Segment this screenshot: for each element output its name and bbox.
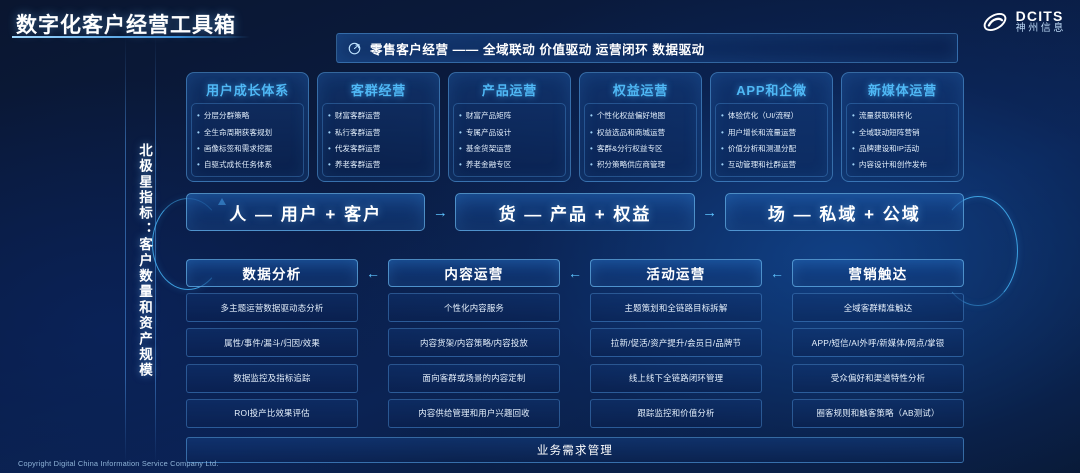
card-title: 产品运营 (453, 78, 566, 103)
list-item: •代发客群运营 (328, 144, 431, 154)
dcits-swirl-logo-icon (981, 8, 1009, 36)
list-item-label: 体验优化（UI/流程） (728, 111, 798, 120)
divider-line-inner (155, 36, 156, 463)
list-item: •财富产品矩阵 (459, 111, 562, 121)
column-arrow-left-icon: ← (358, 265, 388, 281)
capability-card-product-operation[interactable]: 产品运营 •财富产品矩阵 •专属产品设计 •基金货架运营 •养老金融专区 (448, 72, 571, 182)
table-row[interactable]: 圈客规则和触客策略（AB测试） (792, 399, 964, 428)
table-row[interactable]: ROI投产比效果评估 (186, 399, 358, 428)
bullet-dot-icon: • (852, 111, 855, 121)
list-item-label: 品牌建设和IP活动 (859, 144, 919, 153)
list-item: •养老金融专区 (459, 160, 562, 170)
bullet-dot-icon: • (590, 144, 593, 154)
card-title: 权益运营 (584, 78, 697, 103)
table-row[interactable]: 线上线下全链路闭环管理 (590, 364, 762, 393)
retail-customer-banner: 零售客户经营 —— 全域联动 价值驱动 运营闭环 数据驱动 (336, 33, 958, 63)
list-item-label: 积分策略供应商管理 (597, 160, 665, 169)
table-row[interactable]: 受众偏好和渠道特性分析 (792, 364, 964, 393)
list-item-label: 养老客群运营 (335, 160, 381, 169)
capability-cards-row: 用户成长体系 •分层分群策略 •全生命周期获客规划 •画像标签和需求挖掘 •自驱… (186, 72, 964, 182)
table-row[interactable]: 内容供给管理和用户兴趣回收 (388, 399, 560, 428)
column-arrow-left-icon: ← (560, 265, 590, 281)
list-item: •体验优化（UI/流程） (721, 111, 824, 121)
table-row[interactable]: 拉新/促活/资产提升/会员日/品牌节 (590, 328, 762, 357)
card-body: •财富产品矩阵 •专属产品设计 •基金货架运营 •养老金融专区 (453, 103, 566, 177)
table-row[interactable]: 多主题运营数据驱动态分析 (186, 293, 358, 322)
table-row[interactable]: 全域客群精准触达 (792, 293, 964, 322)
table-row[interactable]: 跟踪监控和价值分析 (590, 399, 762, 428)
list-item: •个性化权益偏好地图 (590, 111, 693, 121)
card-title: 客群经营 (322, 78, 435, 103)
capability-card-rights-operation[interactable]: 权益运营 •个性化权益偏好地图 •权益选品和商城运营 •客群&分行权益专区 •积… (579, 72, 702, 182)
column-headers-row: 数据分析 ← 内容运营 ← 活动运营 ← 营销触达 (186, 259, 964, 287)
bullet-dot-icon: • (197, 111, 200, 121)
list-item: •品牌建设和IP活动 (852, 144, 955, 154)
list-item: •基金货架运营 (459, 144, 562, 154)
bullet-dot-icon: • (590, 128, 593, 138)
list-item: •积分策略供应商管理 (590, 160, 693, 170)
table-row[interactable]: 属性/事件/漏斗/归因/效果 (186, 328, 358, 357)
bullet-dot-icon: • (197, 160, 200, 170)
card-title: 新媒体运营 (846, 78, 959, 103)
bullet-dot-icon: • (852, 144, 855, 154)
list-item-label: 权益选品和商城运营 (597, 128, 665, 137)
bullet-dot-icon: • (197, 128, 200, 138)
table-row[interactable]: 面向客群或场景的内容定制 (388, 364, 560, 393)
flow-box-people[interactable]: 人 — 用户 + 客户 (186, 193, 425, 231)
capability-card-new-media[interactable]: 新媒体运营 •流量获取和转化 •全域联动短阵营销 •品牌建设和IP活动 •内容设… (841, 72, 964, 182)
list-item: •互动管理和社群运营 (721, 160, 824, 170)
grid-column-data-analysis: 多主题运营数据驱动态分析 属性/事件/漏斗/归因/效果 数据监控及指标追踪 RO… (186, 293, 358, 428)
card-title: APP和企微 (715, 78, 828, 103)
list-item: •客群&分行权益专区 (590, 144, 693, 154)
flow-arrow-right-icon: → (695, 205, 725, 220)
list-item-label: 财富产品矩阵 (466, 111, 512, 120)
bullet-dot-icon: • (459, 160, 462, 170)
flow-arrow-right-icon: → (425, 205, 455, 220)
bullet-dot-icon: • (328, 128, 331, 138)
target-arrow-icon (347, 41, 362, 56)
brand-logo: DCITS 神州信息 (981, 8, 1066, 36)
list-item: •养老客群运营 (328, 160, 431, 170)
bullet-dot-icon: • (459, 144, 462, 154)
flow-box-field[interactable]: 场 — 私域 + 公域 (725, 193, 964, 231)
column-header-data-analysis[interactable]: 数据分析 (186, 259, 358, 287)
list-item-label: 全域联动短阵营销 (859, 128, 920, 137)
list-item: •价值分析和测温分配 (721, 144, 824, 154)
list-item-label: 内容设计和创作发布 (859, 160, 927, 169)
list-item-label: 画像标签和需求挖掘 (204, 144, 272, 153)
list-item-label: 用户增长和流量运营 (728, 128, 796, 137)
list-item-label: 互动管理和社群运营 (728, 160, 796, 169)
brand-sub: 神州信息 (1016, 24, 1066, 35)
page-title: 数字化客户经营工具箱 (16, 9, 236, 39)
capability-grid: 多主题运营数据驱动态分析 属性/事件/漏斗/归因/效果 数据监控及指标追踪 RO… (186, 293, 964, 428)
card-title: 用户成长体系 (191, 78, 304, 103)
card-body: •个性化权益偏好地图 •权益选品和商城运营 •客群&分行权益专区 •积分策略供应… (584, 103, 697, 177)
bullet-dot-icon: • (459, 111, 462, 121)
bullet-dot-icon: • (459, 128, 462, 138)
bullet-dot-icon: • (590, 111, 593, 121)
list-item: •私行客群运营 (328, 128, 431, 138)
grid-column-content-operation: 个性化内容服务 内容货架/内容策略/内容投放 面向客群或场景的内容定制 内容供给… (388, 293, 560, 428)
list-item: •画像标签和需求挖掘 (197, 144, 300, 154)
list-item-label: 代发客群运营 (335, 144, 381, 153)
card-body: •分层分群策略 •全生命周期获客规划 •画像标签和需求挖掘 •自驱式成长任务体系 (191, 103, 304, 177)
card-body: •流量获取和转化 •全域联动短阵营销 •品牌建设和IP活动 •内容设计和创作发布 (846, 103, 959, 177)
bullet-dot-icon: • (852, 160, 855, 170)
list-item: •专属产品设计 (459, 128, 562, 138)
table-row[interactable]: 主题策划和全链路目标拆解 (590, 293, 762, 322)
list-item-label: 养老金融专区 (466, 160, 512, 169)
capability-card-customer-group[interactable]: 客群经营 •财富客群运营 •私行客群运营 •代发客群运营 •养老客群运营 (317, 72, 440, 182)
banner-text: 零售客户经营 —— 全域联动 价值驱动 运营闭环 数据驱动 (370, 39, 705, 58)
list-item-label: 基金货架运营 (466, 144, 512, 153)
column-header-marketing-reach[interactable]: 营销触达 (792, 259, 964, 287)
table-row[interactable]: 数据监控及指标追踪 (186, 364, 358, 393)
list-item: •分层分群策略 (197, 111, 300, 121)
bullet-dot-icon: • (721, 144, 724, 154)
list-item-label: 专属产品设计 (466, 128, 512, 137)
bullet-dot-icon: • (197, 144, 200, 154)
list-item-label: 财富客群运营 (335, 111, 381, 120)
list-item-label: 个性化权益偏好地图 (597, 111, 665, 120)
list-item: •内容设计和创作发布 (852, 160, 955, 170)
list-item: •财富客群运营 (328, 111, 431, 121)
list-item-label: 流量获取和转化 (859, 111, 912, 120)
list-item: •全生命周期获客规划 (197, 128, 300, 138)
bullet-dot-icon: • (852, 128, 855, 138)
north-star-metric-label: 北极星指标：客户数量和资产规模 (128, 96, 154, 426)
bullet-dot-icon: • (721, 111, 724, 121)
bullet-dot-icon: • (328, 144, 331, 154)
table-row[interactable]: 内容货架/内容策略/内容投放 (388, 328, 560, 357)
capability-card-app-wecom[interactable]: APP和企微 •体验优化（UI/流程） •用户增长和流量运营 •价值分析和测温分… (710, 72, 833, 182)
brand-name: DCITS (1016, 9, 1066, 24)
list-item: •用户增长和流量运营 (721, 128, 824, 138)
grid-column-marketing-reach: 全域客群精准触达 APP/短信/AI外呼/新媒体/网点/掌银 受众偏好和渠道特性… (792, 293, 964, 428)
copyright-text: Copyright Digital China Information Serv… (18, 459, 219, 468)
list-item-label: 价值分析和测温分配 (728, 144, 796, 153)
list-item-label: 全生命周期获客规划 (204, 128, 272, 137)
card-body: •财富客群运营 •私行客群运营 •代发客群运营 •养老客群运营 (322, 103, 435, 177)
bullet-dot-icon: • (328, 111, 331, 121)
bullet-dot-icon: • (328, 160, 331, 170)
business-requirement-bar[interactable]: 业务需求管理 (186, 437, 964, 463)
list-item: •流量获取和转化 (852, 111, 955, 121)
column-arrow-left-icon: ← (762, 265, 792, 281)
list-item-label: 分层分群策略 (204, 111, 250, 120)
bullet-dot-icon: • (590, 160, 593, 170)
list-item: •全域联动短阵营销 (852, 128, 955, 138)
card-body: •体验优化（UI/流程） •用户增长和流量运营 •价值分析和测温分配 •互动管理… (715, 103, 828, 177)
list-item: •自驱式成长任务体系 (197, 160, 300, 170)
list-item-label: 私行客群运营 (335, 128, 381, 137)
table-row[interactable]: 个性化内容服务 (388, 293, 560, 322)
list-item: •权益选品和商城运营 (590, 128, 693, 138)
divider-line-left (125, 36, 126, 463)
bullet-dot-icon: • (721, 160, 724, 170)
list-item-label: 自驱式成长任务体系 (204, 160, 272, 169)
grid-column-campaign-operation: 主题策划和全链路目标拆解 拉新/促活/资产提升/会员日/品牌节 线上线下全链路闭… (590, 293, 762, 428)
list-item-label: 客群&分行权益专区 (597, 144, 663, 153)
column-header-campaign-operation[interactable]: 活动运营 (590, 259, 762, 287)
flow-row: 人 — 用户 + 客户 → 货 — 产品 + 权益 → 场 — 私域 + 公域 (186, 193, 964, 231)
title-underline (12, 36, 250, 38)
column-header-content-operation[interactable]: 内容运营 (388, 259, 560, 287)
flow-box-goods[interactable]: 货 — 产品 + 权益 (455, 193, 694, 231)
table-row[interactable]: APP/短信/AI外呼/新媒体/网点/掌银 (792, 328, 964, 357)
bullet-dot-icon: • (721, 128, 724, 138)
capability-card-user-growth[interactable]: 用户成长体系 •分层分群策略 •全生命周期获客规划 •画像标签和需求挖掘 •自驱… (186, 72, 309, 182)
